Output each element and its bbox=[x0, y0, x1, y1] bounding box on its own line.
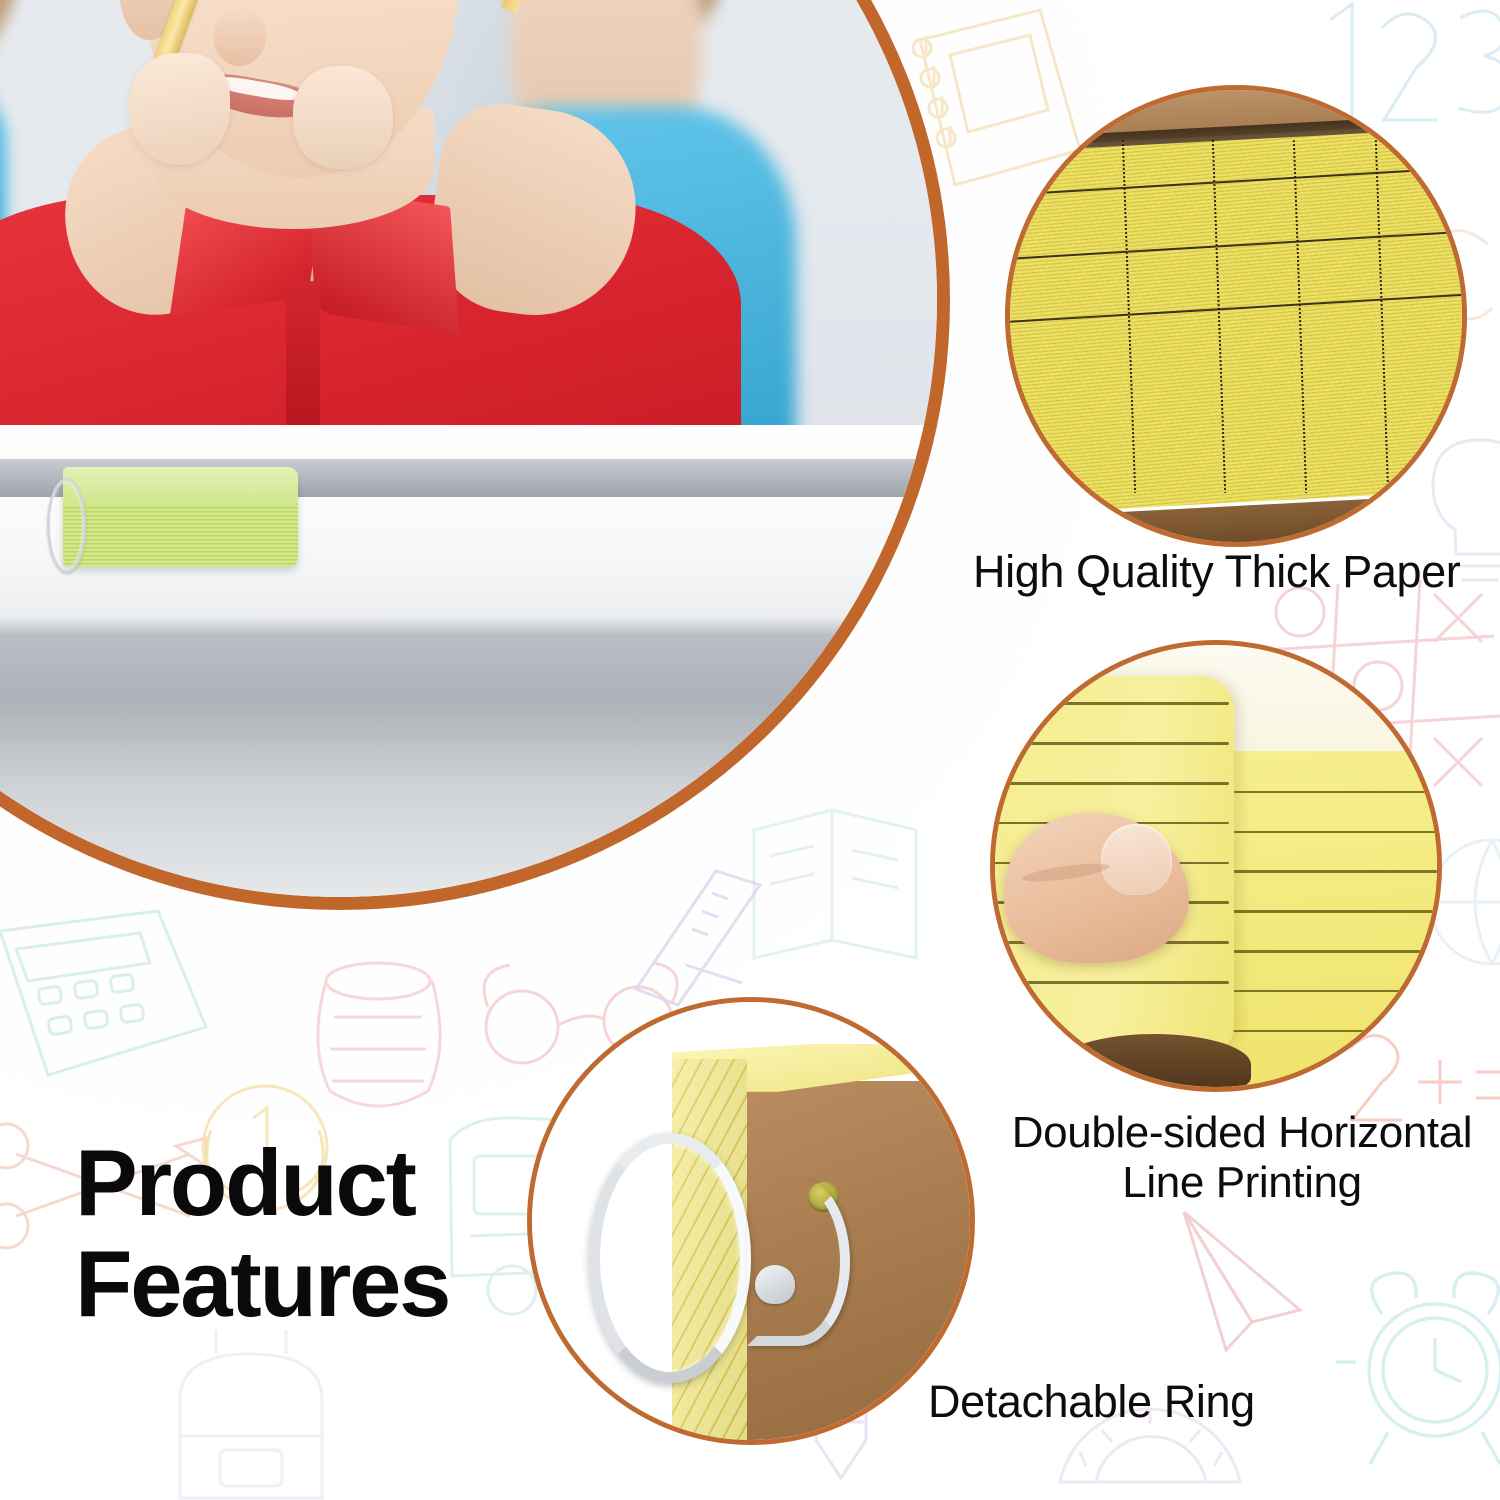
alarm-clock-doodle bbox=[1330, 1270, 1500, 1500]
backpack-doodle bbox=[150, 1330, 370, 1500]
green-index-card-book bbox=[47, 467, 298, 580]
page-title-line1: Product bbox=[75, 1133, 449, 1234]
feature-label-line1: Double-sided Horizontal bbox=[982, 1108, 1500, 1158]
resting-hand bbox=[293, 66, 393, 169]
hero-classroom-photo bbox=[0, 0, 937, 897]
feature-image-double-sided-horizontal-line-printing bbox=[990, 640, 1442, 1092]
paper-plane-doodle bbox=[1180, 1210, 1370, 1360]
page-title-line2: Features bbox=[75, 1234, 449, 1335]
calculator-doodle bbox=[0, 905, 220, 1095]
feature-label-detachable-ring: Detachable Ring bbox=[928, 1376, 1255, 1427]
hero-photo-circle bbox=[0, 0, 950, 910]
feature-label-line2: Line Printing bbox=[982, 1158, 1500, 1208]
binder-ring-icon bbox=[47, 478, 86, 572]
feature-label-high-quality-thick-paper: High Quality Thick Paper bbox=[973, 546, 1460, 597]
feature-image-high-quality-thick-paper bbox=[1005, 85, 1467, 547]
writing-hand bbox=[129, 53, 229, 165]
detachable-ring-icon bbox=[589, 1133, 751, 1383]
product-feature-graphic: High Quality Thick Paper Double-sided Ho… bbox=[0, 0, 1500, 1500]
page-title: Product Features bbox=[75, 1133, 449, 1334]
feature-label-double-sided-horizontal-line-printing: Double-sided Horizontal Line Printing bbox=[982, 1108, 1500, 1208]
feature-image-detachable-ring bbox=[527, 997, 975, 1445]
stacked-cups-doodle bbox=[300, 955, 460, 1155]
